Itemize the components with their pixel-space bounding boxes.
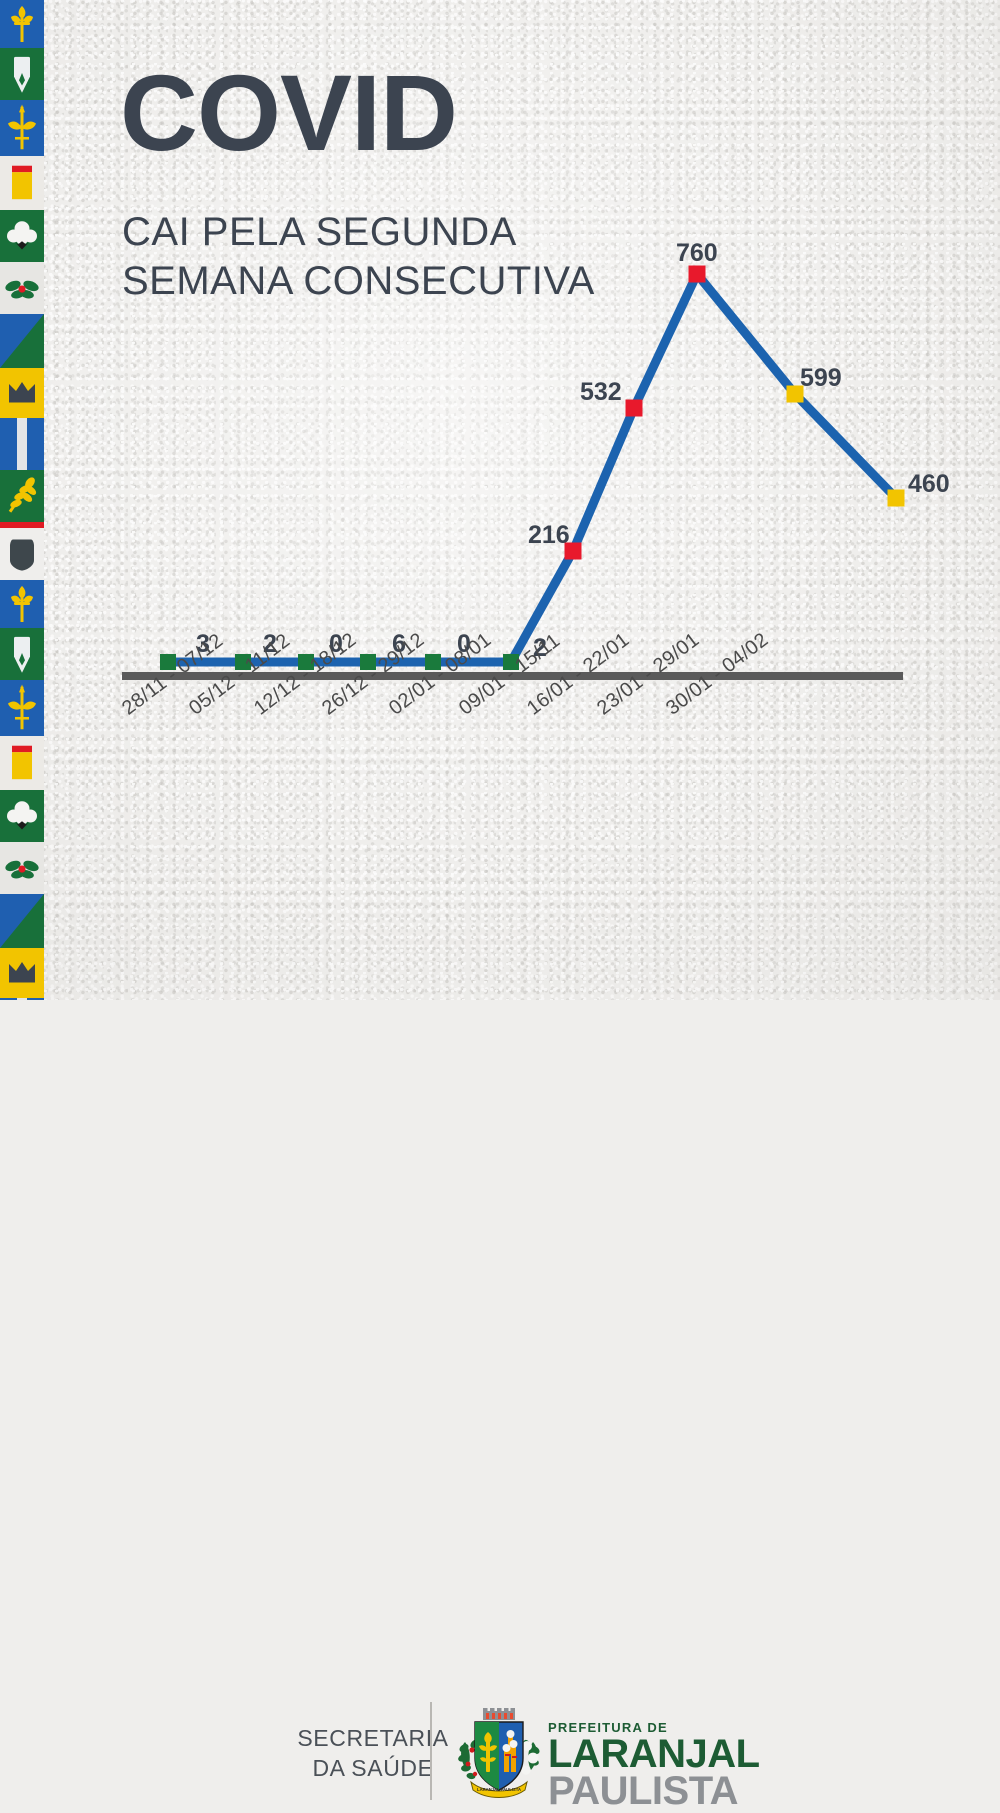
data-value-label-10: 460 [908, 470, 950, 499]
secretariat-line-1: SECRETARIA [283, 1723, 463, 1753]
data-point-marker-8 [689, 266, 706, 283]
brand-prefix: PREFEITURA DE [548, 1720, 760, 1735]
data-value-label-7: 532 [580, 378, 622, 407]
svg-text:LARANJAL PAULISTA: LARANJAL PAULISTA [477, 1787, 521, 1792]
footer-divider [430, 1702, 432, 1800]
data-value-label-8: 760 [676, 239, 718, 268]
data-point-marker-10 [888, 490, 905, 507]
coat-of-arms-icon: LARANJAL PAULISTA [455, 1706, 543, 1798]
footer: SECRETARIA DA SAÚDE [0, 846, 1000, 976]
brand-line-1: LARANJAL [548, 1736, 760, 1773]
data-value-label-9: 599 [800, 364, 842, 393]
data-point-marker-7 [626, 400, 643, 417]
data-value-label-6: 216 [528, 521, 570, 550]
secretariat-label: SECRETARIA DA SAÚDE [283, 1723, 463, 1784]
secretariat-line-2: DA SAÚDE [283, 1753, 463, 1783]
covid-trend-line [168, 274, 896, 662]
prefeitura-wordmark: PREFEITURA DE LARANJAL PAULISTA [548, 1720, 760, 1810]
brand-line-2: PAULISTA [548, 1773, 760, 1810]
